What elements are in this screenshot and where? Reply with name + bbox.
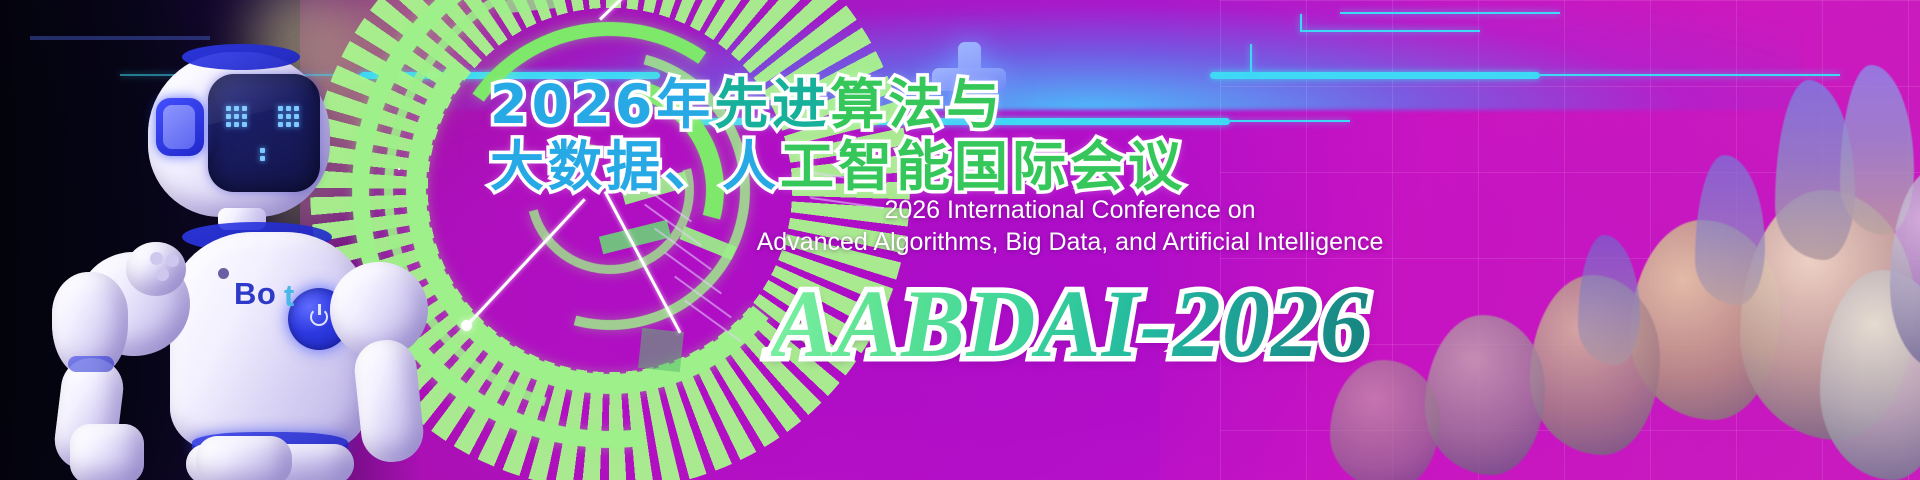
- conference-banner: Bo t 2026年先进算法与 大数据、人工智能国际会议 2026 Inte: [0, 0, 1920, 480]
- title-cn2-part-1: 大数据、: [490, 122, 722, 201]
- title-cn2-part-2: 人: [722, 122, 780, 201]
- subtitle-line1: 2026 International Conference on: [884, 196, 1255, 225]
- acronym-text: AABDAI-2026: [771, 268, 1369, 379]
- subtitle-line2: Advanced Algorithms, Big Data, and Artif…: [757, 228, 1384, 257]
- text-content: 2026年先进算法与 大数据、人工智能国际会议 2026 Internation…: [0, 0, 1920, 480]
- title-chinese-line2: 大数据、人工智能国际会议: [490, 122, 1186, 201]
- title-cn2-part-3: 工智能国际会议: [780, 122, 1186, 201]
